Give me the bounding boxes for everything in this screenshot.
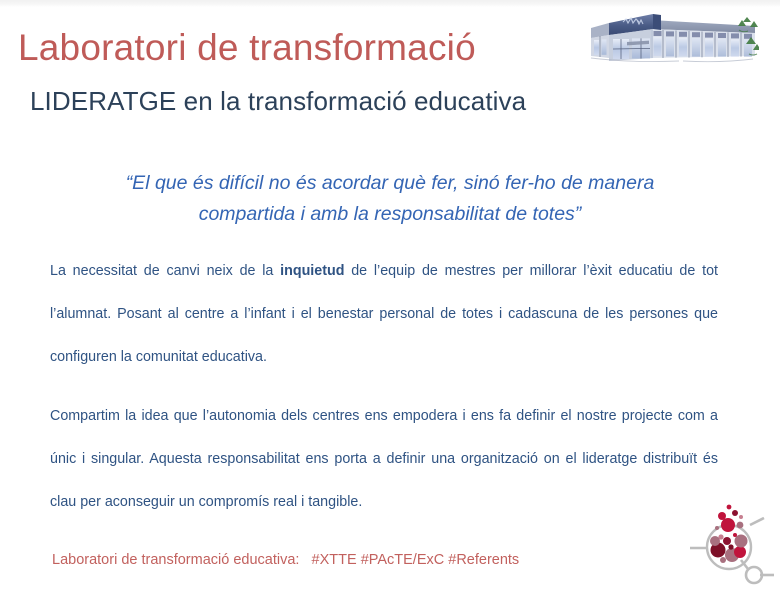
footer-hashtags: #XTTE #PAcTE/ExC #Referents (312, 552, 520, 568)
slide-canvas: Laboratori de transformació LIDERATGE en… (0, 0, 780, 590)
school-building-sketch (583, 6, 759, 68)
body-paragraph-2: Compartim la idea que l’autonomia dels c… (50, 395, 718, 524)
paragraph-1-text-before-emphasis: La necessitat de canvi neix de la (50, 263, 280, 279)
paragraph-1-emphasis-inquietud: inquietud (280, 263, 344, 279)
footer-credit: Laboratori de transformació educativa: #… (52, 552, 519, 568)
pull-quote: “El que és difícil no és acordar què fer… (60, 168, 720, 230)
page-title: Laboratori de transformació (18, 26, 476, 70)
footer-label: Laboratori de transformació educativa: (52, 552, 299, 568)
pull-quote-line-2: compartida i amb la responsabilitat de t… (60, 199, 720, 230)
pull-quote-line-1: “El que és difícil no és acordar què fer… (60, 168, 720, 199)
molecule-cell-logo (688, 503, 776, 587)
body-paragraph-1: La necessitat de canvi neix de la inquie… (50, 250, 718, 379)
page-subtitle: LIDERATGE en la transformació educativa (30, 85, 526, 117)
footer-spacer (299, 552, 311, 568)
